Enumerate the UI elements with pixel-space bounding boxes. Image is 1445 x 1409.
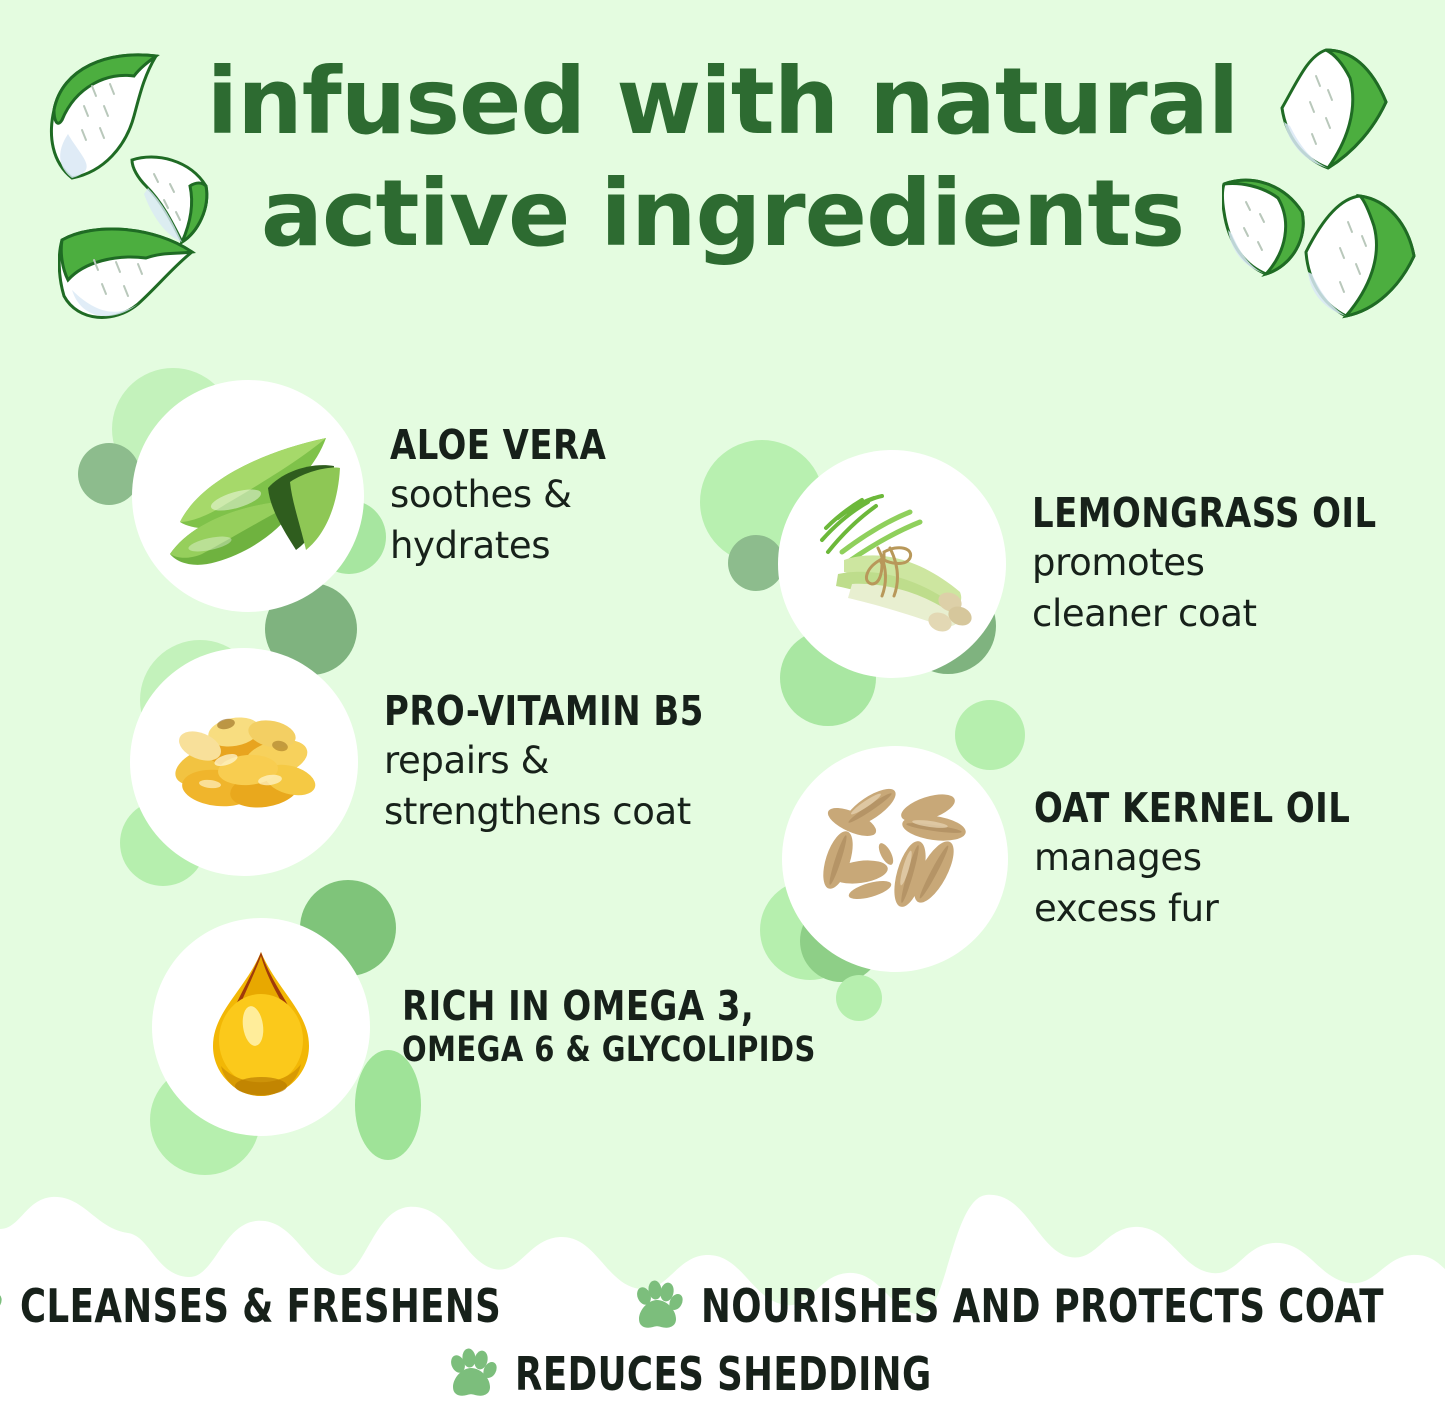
pro-vitamin-b5-desc-line-1: repairs & [384, 738, 732, 784]
aloe-vera-photo [132, 380, 364, 612]
paw-icon [0, 1280, 2, 1332]
ingredient-item-pro-vitamin-b5: PRO-VITAMIN B5 repairs & strengthens coa… [130, 648, 732, 876]
ingredient-item-aloe-vera: ALOE VERA soothes & hydrates [132, 380, 625, 612]
page-title-line-2: active ingredients [0, 158, 1445, 270]
paw-icon [445, 1348, 497, 1400]
omega-name-line-2: OMEGA 6 & GLYCOLIPIDS [402, 1032, 816, 1070]
ingredient-item-lemongrass-oil: LEMONGRASS OIL promotes cleaner coat [778, 450, 1407, 678]
benefit-label-reduces-shedding: REDUCES SHEDDING [515, 1347, 932, 1401]
ingredient-item-oat-kernel-oil: OAT KERNEL OIL manages excess fur [782, 746, 1378, 972]
oil-droplet-photo [152, 918, 370, 1136]
oat-kernel-oil-desc-line-1: manages [1034, 835, 1378, 881]
aloe-vera-desc-line-2: hydrates [390, 523, 625, 569]
lemongrass-oil-text: LEMONGRASS OIL promotes cleaner coat [1032, 491, 1407, 637]
aloe-vera-name: ALOE VERA [390, 423, 606, 467]
lemongrass-oil-name: LEMONGRASS OIL [1032, 491, 1377, 535]
aloe-vera-text: ALOE VERA soothes & hydrates [390, 423, 625, 569]
lemongrass-oil-desc-line-1: promotes [1032, 540, 1407, 586]
omega-text: RICH IN OMEGA 3, OMEGA 6 & GLYCOLIPIDS [402, 984, 852, 1069]
page-title-line-1: infused with natural [0, 46, 1445, 158]
pro-vitamin-b5-text: PRO-VITAMIN B5 repairs & strengthens coa… [384, 689, 732, 835]
oat-kernel-oil-text: OAT KERNEL OIL manages excess fur [1034, 786, 1378, 932]
aloe-vera-desc-line-1: soothes & [390, 472, 625, 518]
benefits-bar: CLEANSES & FRESHENS NOURISHES AND PROTEC… [0, 1279, 1445, 1401]
decorative-dot-sage-1 [78, 443, 140, 505]
benefit-label-nourishes-protects: NOURISHES AND PROTECTS COAT [701, 1279, 1384, 1333]
vitamin-capsules-photo [130, 648, 358, 876]
benefit-reduces-shedding: REDUCES SHEDDING [445, 1347, 999, 1401]
paw-icon [631, 1280, 683, 1332]
lemongrass-oil-desc-line-2: cleaner coat [1032, 591, 1407, 637]
pro-vitamin-b5-name: PRO-VITAMIN B5 [384, 689, 704, 733]
decorative-dot-sage-3 [728, 535, 784, 591]
oat-kernel-oil-name: OAT KERNEL OIL [1034, 786, 1350, 830]
benefit-label-cleanses-freshens: CLEANSES & FRESHENS [20, 1279, 501, 1333]
lemongrass-photo [778, 450, 1006, 678]
benefits-row-1: CLEANSES & FRESHENS NOURISHES AND PROTEC… [0, 1279, 1445, 1333]
oat-kernel-oil-desc-line-2: excess fur [1034, 886, 1378, 932]
benefit-cleanses-freshens: CLEANSES & FRESHENS [0, 1279, 579, 1333]
pro-vitamin-b5-desc-line-2: strengthens coat [384, 789, 732, 835]
benefits-row-2: REDUCES SHEDDING [0, 1347, 1445, 1401]
oat-kernels-photo [782, 746, 1008, 972]
benefit-nourishes-protects: NOURISHES AND PROTECTS COAT [631, 1279, 1445, 1333]
omega-name-line-1: RICH IN OMEGA 3, [402, 984, 816, 1028]
ingredient-item-omega: RICH IN OMEGA 3, OMEGA 6 & GLYCOLIPIDS [152, 918, 852, 1136]
page-title: infused with natural active ingredients [0, 46, 1445, 270]
